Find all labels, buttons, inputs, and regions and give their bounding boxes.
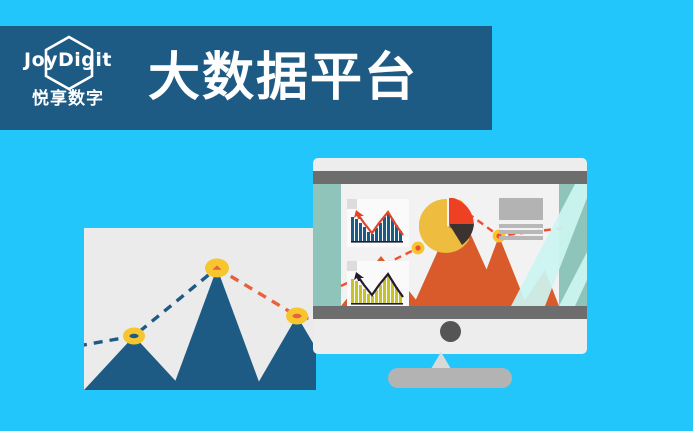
left-mountain-chart — [84, 228, 316, 390]
brand-subtitle: 悦享数字 — [32, 84, 104, 109]
folded-corner-icon — [347, 199, 357, 209]
left-mountain-panel — [84, 228, 316, 390]
monitor-illustration — [313, 158, 587, 354]
document-image-block — [499, 198, 543, 220]
illustration-canvas: JoyDigit 悦享数字 大数据平台 — [0, 0, 693, 431]
data-marker — [286, 308, 308, 325]
document-text-line — [499, 236, 543, 240]
document-text-line — [499, 224, 543, 228]
page-title: 大数据平台 — [148, 52, 418, 104]
card-top-bar-chart — [347, 199, 409, 247]
screen-pie-chart — [419, 198, 475, 254]
header-banner: JoyDigit 悦享数字 大数据平台 — [0, 26, 492, 130]
data-marker — [205, 259, 229, 278]
brand-logo: JoyDigit 悦享数字 — [14, 33, 122, 123]
monitor-bezel-bottom — [313, 306, 587, 319]
monitor-stand-base — [388, 368, 512, 388]
folded-corner-icon — [347, 261, 357, 271]
monitor-power-button[interactable] — [440, 321, 461, 342]
bar-chart-olive — [347, 261, 409, 306]
axis-line — [351, 303, 403, 305]
card-bottom-bar-chart — [347, 261, 409, 306]
mountain-shape-far-right — [521, 270, 559, 306]
monitor-bezel-top — [313, 171, 587, 184]
document-text-line — [499, 230, 543, 234]
up-left-arrow-icon — [354, 210, 364, 219]
mountain-shape-right — [254, 316, 316, 390]
monitor-screen — [313, 184, 587, 306]
data-marker — [123, 328, 145, 345]
brand-wordmark: JoyDigit — [24, 49, 112, 71]
pie-slice-b — [449, 198, 474, 224]
bar-chart-blue — [347, 199, 409, 247]
axis-line — [351, 241, 403, 243]
up-left-arrow-icon — [354, 272, 364, 281]
document-placeholder — [499, 198, 543, 242]
